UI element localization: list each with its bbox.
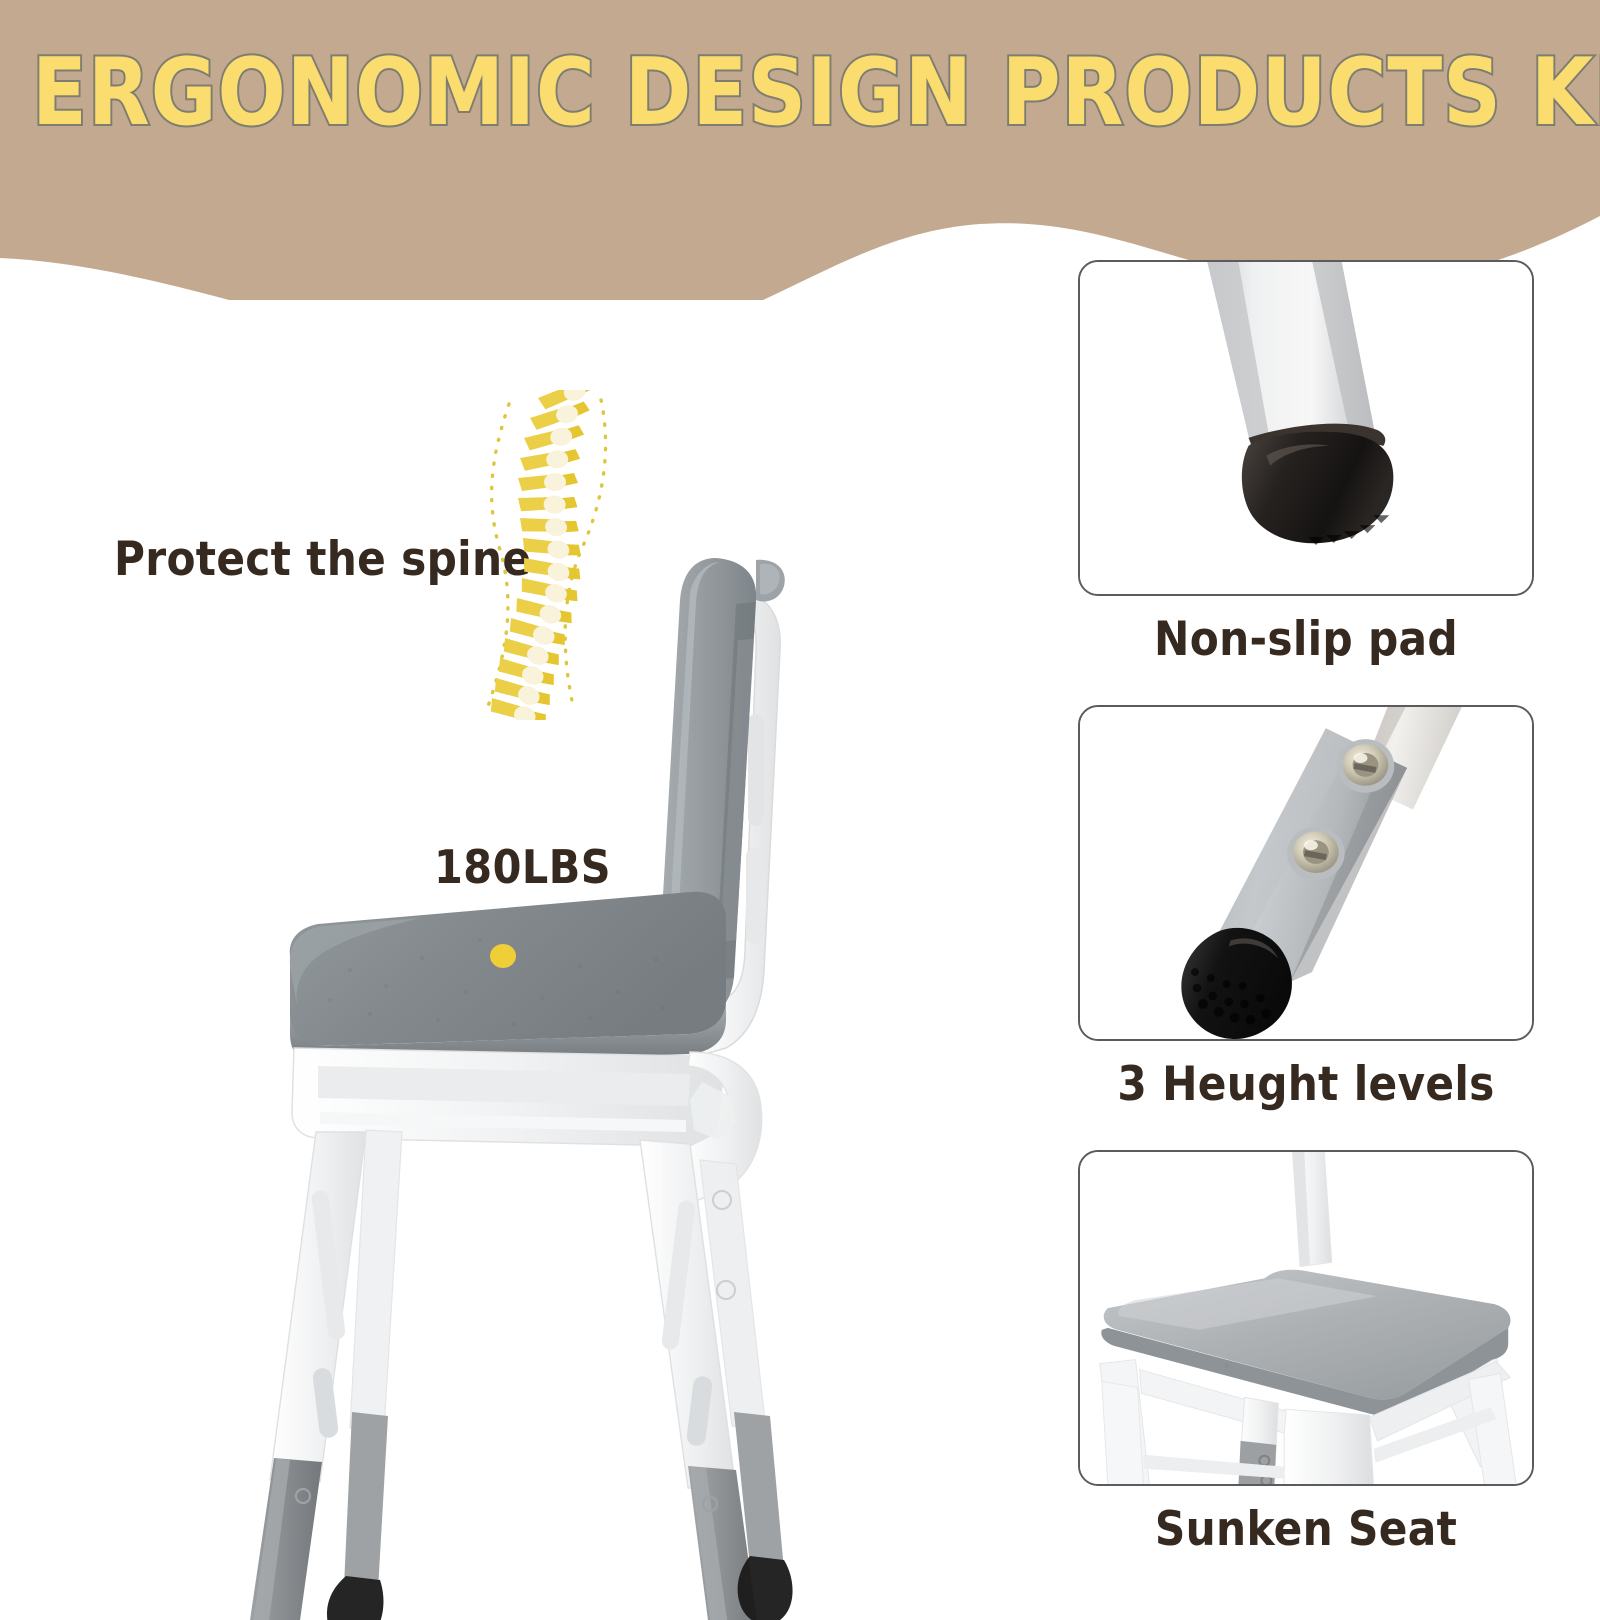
chair-sunken-seat-icon <box>1080 1152 1532 1484</box>
feature-card-image[interactable] <box>1078 705 1534 1041</box>
feature-block-height-levels: 3 Heught levels <box>1078 705 1534 1112</box>
feature-card-image[interactable] <box>1078 260 1534 596</box>
chair-leg-nonslip-pad-icon <box>1080 262 1532 594</box>
screw-lower <box>1287 826 1344 880</box>
page-title: ERGONOMIC DESIGN PRODUCTS KIDS <box>32 46 1568 139</box>
feature-card-image[interactable] <box>1078 1150 1534 1486</box>
feature-caption: 3 Heught levels <box>1078 1057 1534 1112</box>
chair-product-image <box>170 500 870 1620</box>
feature-caption: Sunken Seat <box>1078 1502 1534 1557</box>
product-showcase-panel: Protect the spine <box>0 300 1040 1600</box>
feature-caption: Non-slip pad <box>1078 612 1534 667</box>
screw-upper <box>1337 739 1394 793</box>
header-banner: ERGONOMIC DESIGN PRODUCTS KIDS <box>0 0 1600 300</box>
feature-block-non-slip-pad: Non-slip pad <box>1078 260 1534 667</box>
seat-center-dot <box>490 944 516 968</box>
chair-leg-front-left <box>224 1132 366 1620</box>
chair-leg-height-adjust-icon <box>1080 707 1532 1039</box>
weight-capacity-label: 180LBS <box>434 840 611 894</box>
feature-block-sunken-seat: Sunken Seat <box>1078 1150 1534 1557</box>
